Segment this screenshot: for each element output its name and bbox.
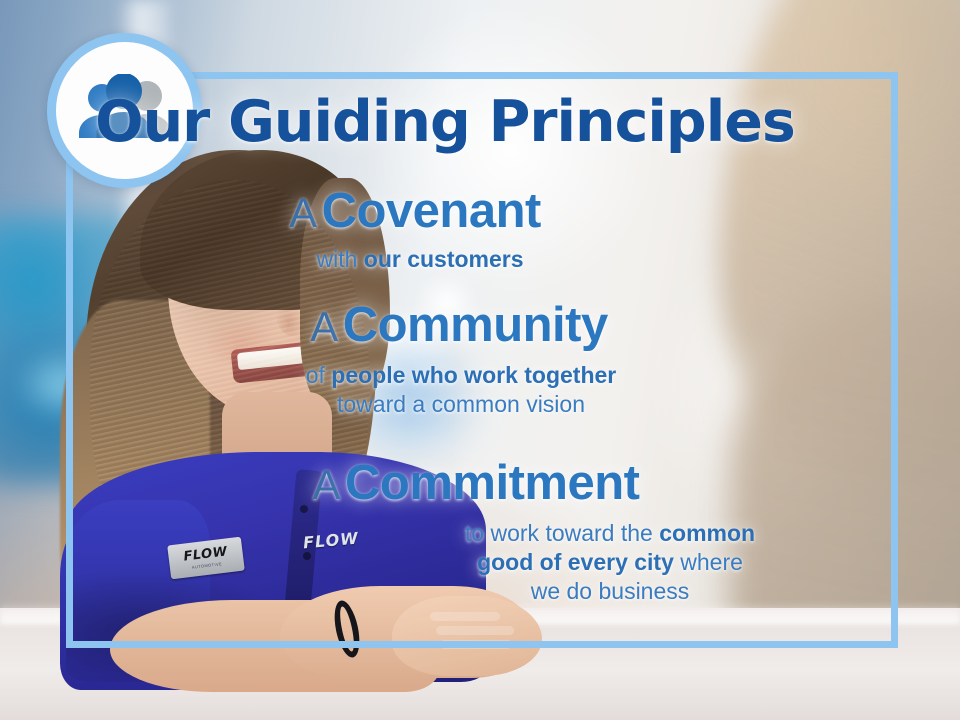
subtitle-text: toward a common vision	[337, 391, 585, 417]
subtitle-text: we do business	[531, 578, 690, 604]
principle-keyword: Commitment	[345, 456, 639, 510]
subtitle-text: with	[316, 246, 363, 272]
principle-article: A	[310, 303, 338, 350]
subtitle-text: of	[306, 362, 332, 388]
principle-heading: A Community	[0, 300, 960, 351]
principle-subtitle: of people who work togethertoward a comm…	[0, 361, 960, 419]
subtitle-text: to work toward the	[465, 520, 659, 546]
principle-subtitle: to work toward the commongood of every c…	[0, 519, 960, 606]
principle-commitment: A Commitment to work toward the commongo…	[0, 458, 960, 606]
principle-heading: A Commitment	[0, 458, 960, 509]
guiding-principles-graphic: FLOW AUTOMOTIVE FLOW	[0, 0, 960, 720]
principle-subtitle: with our customers	[0, 245, 960, 274]
subtitle-emphasis: good of every city	[477, 549, 674, 575]
principle-heading: A Covenant	[0, 186, 960, 237]
subtitle-emphasis: common	[659, 520, 755, 546]
principle-keyword: Covenant	[322, 184, 541, 238]
principle-community: A Community of people who work togethert…	[0, 300, 960, 419]
principle-article: A	[313, 461, 341, 508]
page-title: Our Guiding Principles	[0, 94, 890, 151]
principle-covenant: A Covenant with our customers	[0, 186, 960, 274]
principle-keyword: Community	[343, 298, 608, 352]
subtitle-text: where	[674, 549, 743, 575]
subtitle-emphasis: people who work together	[331, 362, 616, 388]
subtitle-emphasis: our customers	[364, 246, 524, 272]
text-overlay: Our Guiding Principles A Covenant with o…	[0, 0, 960, 720]
principle-article: A	[289, 189, 317, 236]
